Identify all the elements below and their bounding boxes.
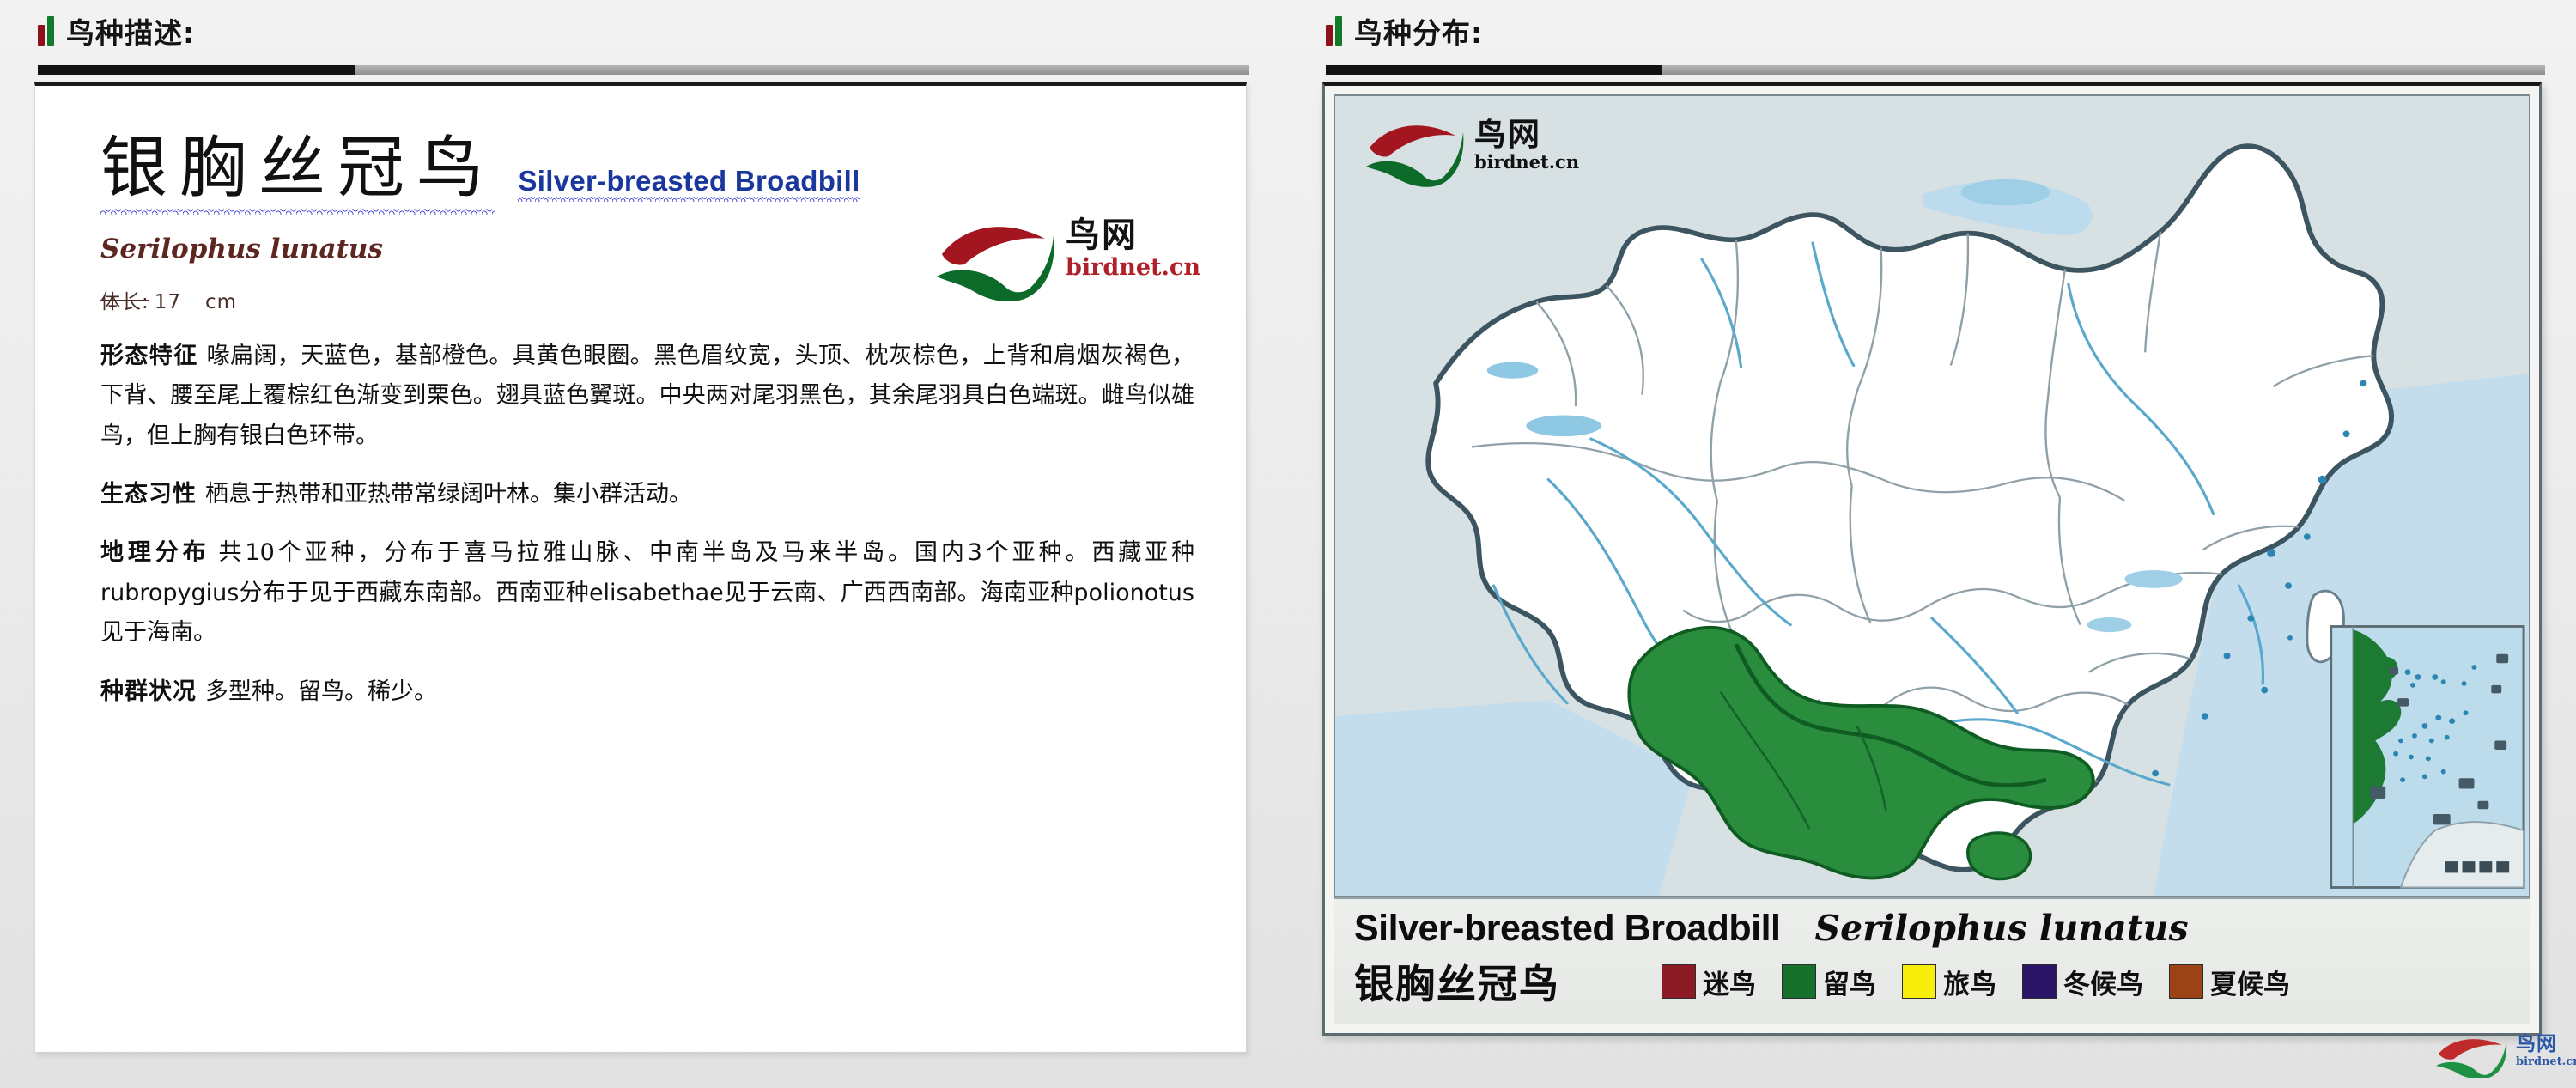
- section-distribution-text: 共10个亚种，分布于喜马拉雅山脉、中南半岛及马来半岛。国内3个亚种。西藏亚种ru…: [100, 539, 1194, 646]
- legend-item-resident[interactable]: 留鸟: [1782, 963, 1876, 1001]
- map-caption-chinese-name: 银胸丝冠鸟: [1354, 953, 1560, 1010]
- section-distribution-heading: 地理分布: [100, 539, 210, 566]
- legend-item-vagrant[interactable]: 迷鸟: [1662, 963, 1756, 1001]
- bar-chart-icon: [1326, 16, 1342, 46]
- page-watermark: 鸟网 birdnet.cn: [2435, 1030, 2564, 1083]
- size-value: 17: [155, 291, 181, 313]
- distribution-pane: 鸟种分布:: [1288, 0, 2576, 1088]
- section-ecology-text: 栖息于热带和亚热带常绿阔叶林。集小群活动。: [205, 481, 692, 508]
- legend-swatch-vagrant: [1662, 964, 1696, 999]
- china-distribution-map: [1335, 96, 2529, 896]
- bar-chart-icon: [38, 16, 54, 46]
- distribution-map-card: 鸟网 birdnet.cn Silver-breasted Broadbill …: [1322, 82, 2542, 1036]
- spellcheck-squiggle-en: [518, 197, 860, 202]
- map-frame[interactable]: 鸟网 birdnet.cn: [1334, 94, 2530, 897]
- section-ecology: 生态习性栖息于热带和亚热带常绿阔叶林。集小群活动。: [100, 475, 1194, 514]
- description-section-header: 鸟种描述:: [38, 7, 195, 55]
- legend-swatch-passage: [1902, 964, 1936, 999]
- legend-label-winter: 冬候鸟: [2063, 963, 2143, 1001]
- map-legend: 迷鸟 留鸟 旅鸟 冬候鸟: [1662, 963, 2290, 1001]
- legend-swatch-winter: [2022, 964, 2057, 999]
- birdnet-logo-cn: 鸟网: [1066, 218, 1200, 252]
- legend-label-summer: 夏候鸟: [2210, 963, 2290, 1001]
- legend-item-winter[interactable]: 冬候鸟: [2022, 963, 2143, 1001]
- map-caption-legend-row: 银胸丝冠鸟 迷鸟 留鸟 旅鸟: [1354, 953, 2517, 1010]
- description-tab-rule: [38, 65, 1249, 75]
- section-population: 种群状况多型种。留鸟。稀少。: [100, 672, 1194, 712]
- map-logo-text: 鸟网 birdnet.cn: [1474, 119, 1579, 171]
- distribution-section-header: 鸟种分布:: [1326, 7, 1483, 55]
- distribution-section-title: 鸟种分布:: [1354, 10, 1483, 52]
- section-morphology: 形态特征喙扁阔，天蓝色，基部橙色。具黄色眼圈。黑色眉纹宽，头顶、枕灰棕色，上背和…: [100, 337, 1194, 456]
- birdnet-logo-text: 鸟网 birdnet.cn: [1066, 218, 1200, 279]
- legend-swatch-summer: [2169, 964, 2203, 999]
- legend-label-passage: 旅鸟: [1943, 963, 1996, 1001]
- watermark-en: birdnet.cn: [2516, 1056, 2576, 1067]
- description-section-title: 鸟种描述:: [66, 10, 195, 52]
- section-morphology-heading: 形态特征: [100, 343, 198, 369]
- map-caption-names: Silver-breasted Broadbill Serilophus lun…: [1354, 908, 2517, 950]
- section-distribution: 地理分布共10个亚种，分布于喜马拉雅山脉、中南半岛及马来半岛。国内3个亚种。西藏…: [100, 533, 1194, 653]
- map-logo-en: birdnet.cn: [1474, 153, 1579, 171]
- species-english-name: Silver-breasted Broadbill: [518, 165, 860, 202]
- section-ecology-heading: 生态习性: [100, 481, 197, 508]
- map-caption-scientific-name: Serilophus lunatus: [1815, 908, 2189, 949]
- section-morphology-text: 喙扁阔，天蓝色，基部橙色。具黄色眼圈。黑色眉纹宽，头顶、枕灰棕色，上背和肩烟灰褐…: [100, 343, 1194, 449]
- map-caption: Silver-breasted Broadbill Serilophus lun…: [1334, 897, 2530, 1024]
- legend-label-resident: 留鸟: [1823, 963, 1876, 1001]
- legend-swatch-resident: [1782, 964, 1816, 999]
- map-logo-cn: 鸟网: [1474, 119, 1579, 150]
- slide-stage: 鸟种描述: 银胸丝冠鸟 鸟网 birdnet.cn Silv: [0, 0, 2576, 1088]
- legend-label-vagrant: 迷鸟: [1703, 963, 1756, 1001]
- section-population-heading: 种群状况: [100, 678, 197, 705]
- distribution-tab-rule: [1326, 65, 2545, 75]
- birdnet-swoosh-icon: [1364, 115, 1471, 187]
- birdnet-swoosh-icon: [935, 215, 1064, 301]
- size-label: 体长:: [100, 285, 149, 314]
- watermark-cn: 鸟网: [2516, 1035, 2576, 1055]
- legend-item-passage[interactable]: 旅鸟: [1902, 963, 1996, 1001]
- birdnet-logo-en: birdnet.cn: [1066, 256, 1200, 279]
- page-title: 银胸丝冠鸟: [100, 131, 495, 215]
- map-birdnet-logo: 鸟网 birdnet.cn: [1364, 115, 1562, 194]
- spellcheck-squiggle: [100, 209, 495, 215]
- watermark-swoosh-icon: [2435, 1033, 2514, 1078]
- legend-item-summer[interactable]: 夏候鸟: [2169, 963, 2290, 1001]
- species-chinese-name: 银胸丝冠鸟: [100, 130, 495, 207]
- section-population-text: 多型种。留鸟。稀少。: [205, 678, 437, 705]
- size-unit: cm: [205, 291, 237, 313]
- birdnet-logo: 鸟网 birdnet.cn: [935, 213, 1167, 307]
- map-caption-english-name: Silver-breasted Broadbill: [1354, 908, 1781, 950]
- watermark-text: 鸟网 birdnet.cn: [2516, 1035, 2576, 1067]
- species-description-card: 银胸丝冠鸟 鸟网 birdnet.cn Silver-breasted Broa…: [34, 82, 1247, 1053]
- description-pane: 鸟种描述: 银胸丝冠鸟 鸟网 birdnet.cn Silv: [0, 0, 1288, 1088]
